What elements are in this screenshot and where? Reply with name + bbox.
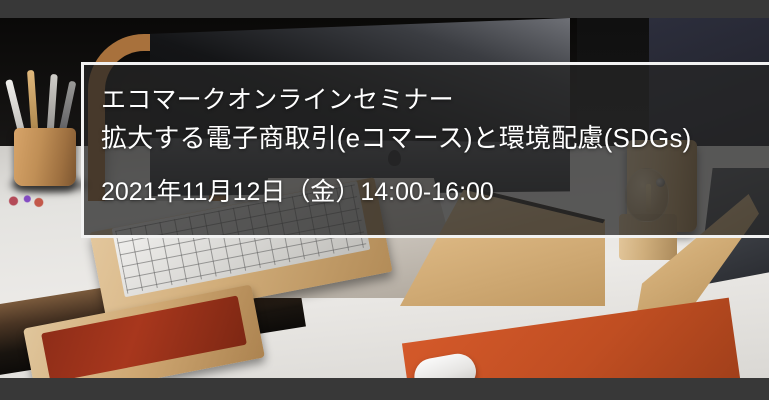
seminar-title-line-2: 拡大する電子商取引(eコマース)と環境配慮(SDGs) — [101, 119, 765, 157]
title-overlay-card: エコマークオンラインセミナー 拡大する電子商取引(eコマース)と環境配慮(SDG… — [81, 62, 769, 238]
seminar-banner: エコマークオンラインセミナー 拡大する電子商取引(eコマース)と環境配慮(SDG… — [0, 0, 769, 400]
title-overlay-content: エコマークオンラインセミナー 拡大する電子商取引(eコマース)と環境配慮(SDG… — [101, 81, 765, 209]
paper-clips — [2, 194, 48, 208]
letterbox-band-top — [0, 0, 769, 18]
letterbox-band-bottom — [0, 378, 769, 400]
seminar-title-line-1: エコマークオンラインセミナー — [101, 81, 765, 119]
seminar-datetime: 2021年11月12日（金）14:00-16:00 — [101, 175, 765, 209]
pen-cup — [14, 128, 76, 186]
